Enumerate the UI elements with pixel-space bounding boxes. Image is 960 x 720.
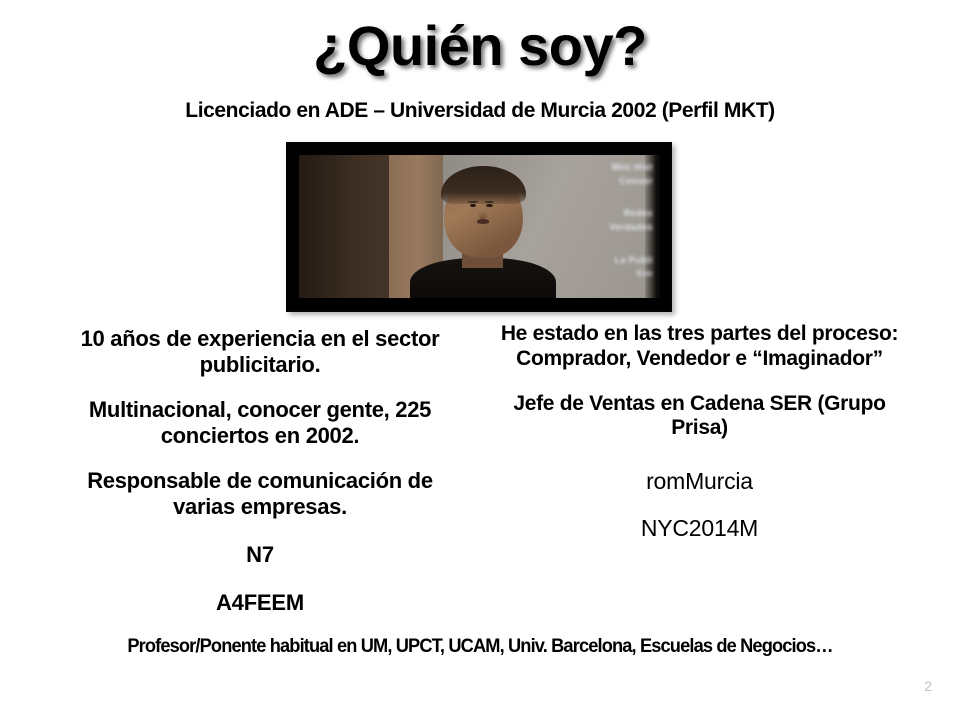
person-mouth xyxy=(477,219,490,223)
left-handle-a4feem: A4FEEM xyxy=(55,590,465,616)
photo-background-wall xyxy=(299,155,396,298)
footer-text: Profesor/Ponente habitual en UM, UPCT, U… xyxy=(19,636,941,658)
left-handle-n7: N7 xyxy=(55,542,465,568)
right-handle-rommurcia: romMurcia xyxy=(492,468,907,495)
person-hair xyxy=(441,166,526,203)
projected-text-line-6: Eso xyxy=(637,269,653,278)
projected-text-line-4: Verdades xyxy=(610,222,653,232)
right-paragraph-2: Jefe de Ventas en Cadena SER (Grupo Pris… xyxy=(492,392,907,442)
page-number: 2 xyxy=(924,678,932,694)
person-eye-right xyxy=(486,204,492,207)
left-paragraph-2: Multinacional, conocer gente, 225 concie… xyxy=(55,397,465,449)
right-column: He estado en las tres partes del proceso… xyxy=(492,322,907,542)
page-title: ¿Quién soy? xyxy=(0,16,960,75)
right-paragraph-1: He estado en las tres partes del proceso… xyxy=(492,322,907,372)
speaker-photo-frame: Mini Hist Conver Redes Verdades La Publi… xyxy=(286,142,672,312)
slide-subtitle: Licenciado en ADE – Universidad de Murci… xyxy=(0,99,960,123)
projected-text-line-1: Mini Hist xyxy=(612,162,653,172)
left-column: 10 años de experiencia en el sector publ… xyxy=(55,326,465,616)
projected-text-line-2: Conver xyxy=(619,176,652,186)
speaker-photo: Mini Hist Conver Redes Verdades La Publi… xyxy=(299,155,660,298)
projected-text-line-5: La Publi xyxy=(615,255,653,265)
person-eye-left xyxy=(470,204,476,207)
photo-person xyxy=(407,155,559,298)
slide-canvas: ¿Quién soy? Licenciado en ADE – Universi… xyxy=(0,0,960,720)
left-paragraph-3: Responsable de comunicación de varias em… xyxy=(55,468,465,520)
projected-text-line-3: Redes xyxy=(624,208,653,218)
person-nose xyxy=(479,211,487,219)
left-paragraph-1: 10 años de experiencia en el sector publ… xyxy=(55,326,465,378)
right-handle-nyc2014m: NYC2014M xyxy=(492,515,907,542)
